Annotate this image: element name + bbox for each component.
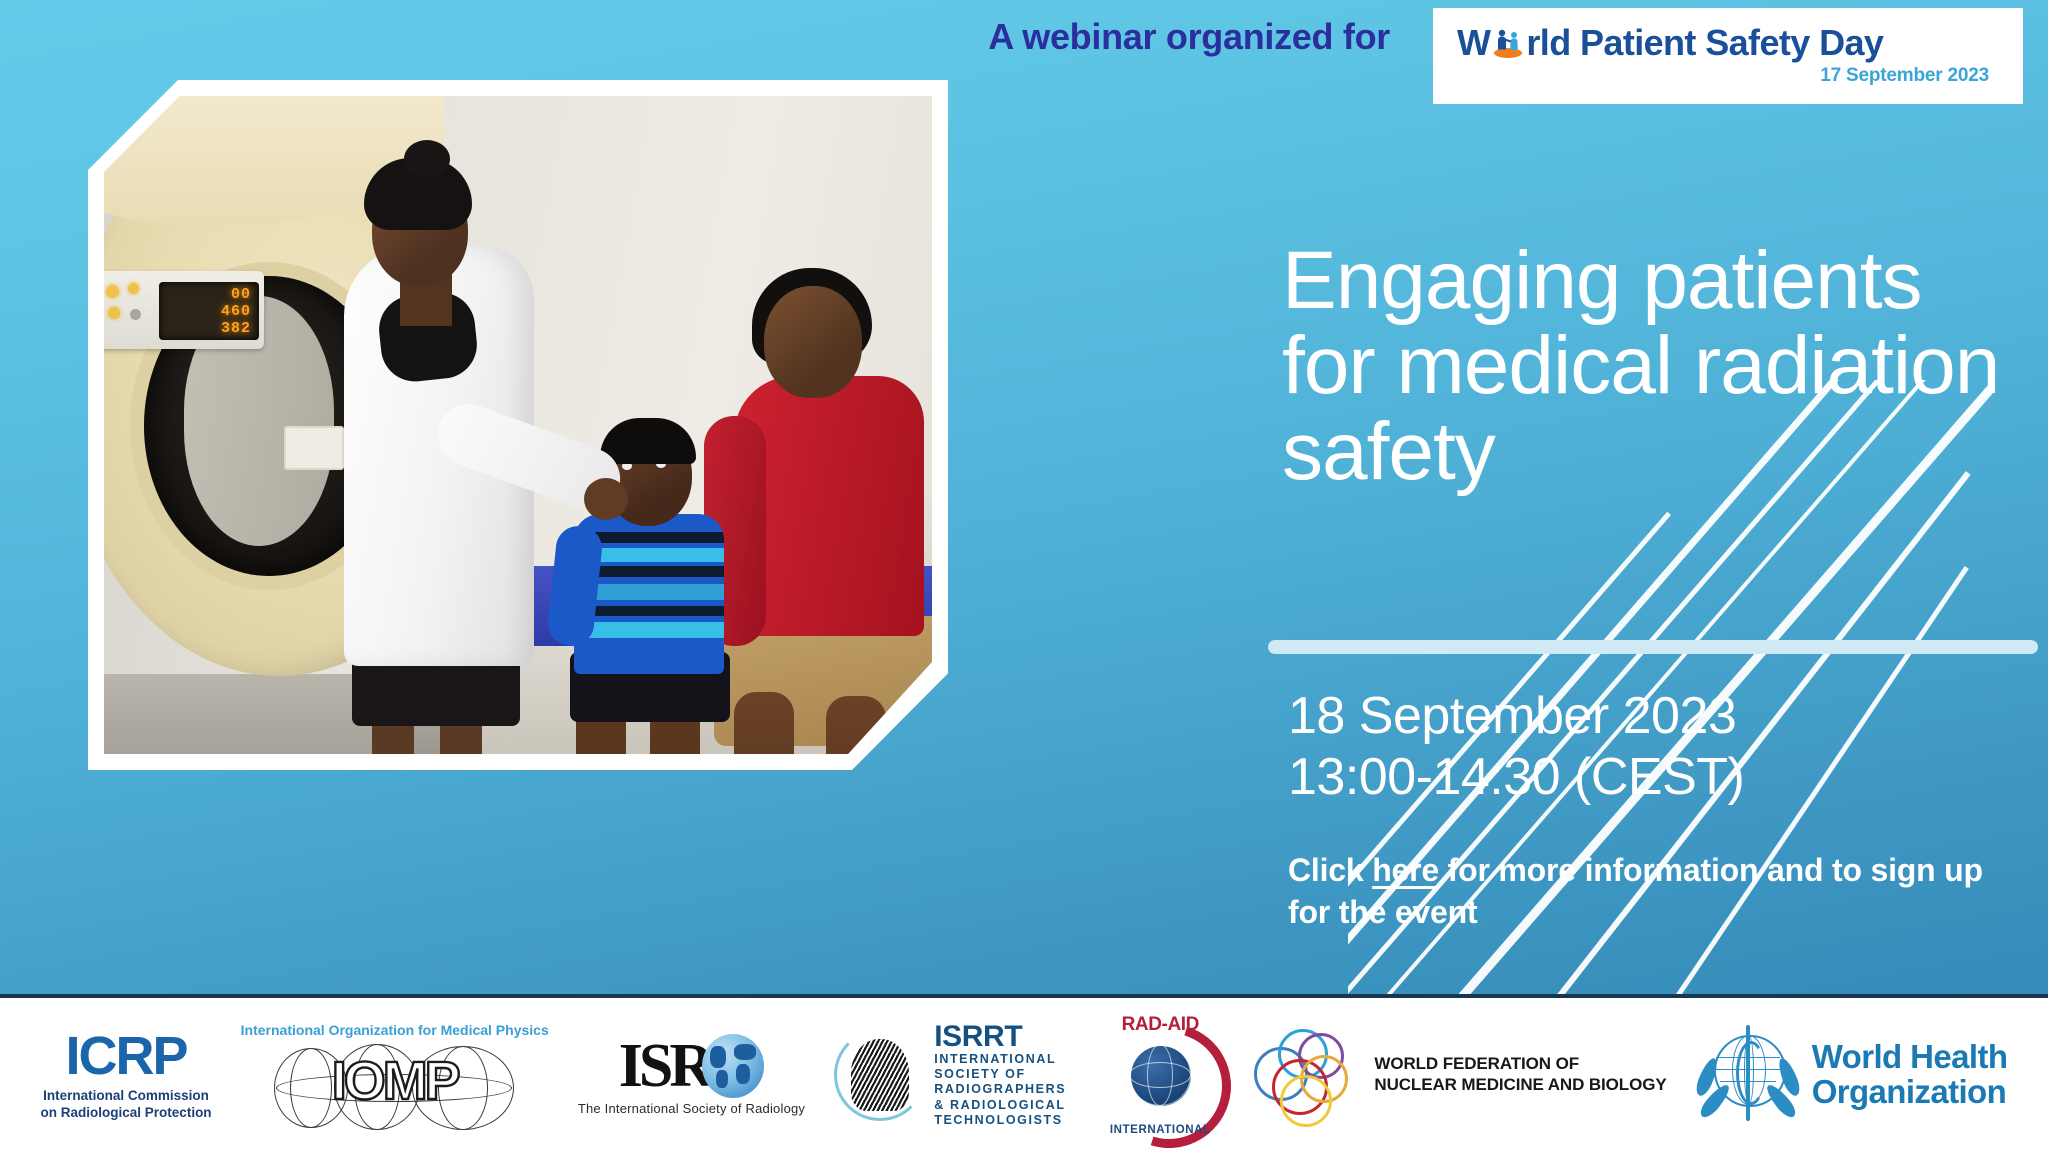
- radiographer-hair-bun: [404, 140, 450, 178]
- who-wordmark: World Health Organization: [1812, 1040, 2008, 1110]
- event-datetime: 18 September 2023 13:00-14:30 (CEST): [1288, 686, 2008, 809]
- who-emblem-icon: [1696, 1023, 1800, 1127]
- rad-aid-globe-icon: [1131, 1046, 1191, 1106]
- photo-frame: 00 460 382: [88, 80, 948, 770]
- event-date: 18 September 2023: [1288, 686, 2008, 747]
- poster-canvas: A webinar organized for W rld Patient Sa…: [0, 0, 2048, 1152]
- wall-outlet: [284, 426, 344, 470]
- iomp-globe-icon: IOMP: [272, 1040, 517, 1128]
- logo-wfnmb: WORLD FEDERATION OF NUCLEAR MEDICINE AND…: [1254, 1025, 1666, 1125]
- wpsd-title-pre: W: [1457, 25, 1490, 61]
- wfnmb-line-1: WORLD FEDERATION OF: [1374, 1054, 1666, 1075]
- isr-wordmark-row: ISR: [619, 1034, 764, 1098]
- wpsd-title-post: rld Patient Safety Day: [1526, 25, 1883, 61]
- wfnmb-line-2: NUCLEAR MEDICINE AND BIOLOGY: [1374, 1075, 1666, 1096]
- rad-aid-subtitle: INTERNATIONAL: [1095, 1124, 1225, 1136]
- led-value-1: 00: [231, 286, 251, 303]
- isr-wordmark: ISR: [619, 1035, 710, 1097]
- mother-head: [764, 286, 862, 398]
- shirt-stripe: [574, 606, 724, 616]
- wpsd-date: 17 September 2023: [1433, 65, 2023, 87]
- logo-rad-aid: RAD-AID INTERNATIONAL: [1095, 1014, 1225, 1136]
- logo-iomp: International Organization for Medical P…: [241, 1022, 549, 1128]
- iomp-wordmark: IOMP: [272, 1054, 517, 1108]
- radiographer-hand: [584, 478, 628, 520]
- isr-globe-icon: [702, 1034, 764, 1098]
- logo-who: World Health Organization: [1696, 1023, 2008, 1127]
- who-line-2: Organization: [1812, 1075, 2008, 1110]
- panel-button-3: [108, 307, 120, 319]
- mother-leg: [826, 696, 886, 754]
- title-divider: [1268, 640, 2038, 654]
- panel-button-4: [130, 309, 141, 320]
- event-time: 13:00-14:30 (CEST): [1288, 747, 2008, 808]
- signup-link[interactable]: here: [1372, 852, 1439, 888]
- iomp-subtitle: International Organization for Medical P…: [241, 1022, 549, 1038]
- ct-led-display: 00 460 382: [159, 282, 259, 340]
- isr-subtitle: The International Society of Radiology: [578, 1101, 805, 1116]
- panel-button-2: [128, 283, 139, 294]
- isrrt-line-5: TECHNOLOGISTS: [934, 1113, 1066, 1128]
- world-patient-safety-day-logo: W rld Patient Safety Day 17 September 20…: [1433, 8, 2023, 104]
- cta-text-pre: Click: [1288, 852, 1372, 888]
- mother-leg: [734, 692, 794, 754]
- photo-image: 00 460 382: [104, 96, 932, 754]
- isrrt-line-3: RADIOGRAPHERS: [934, 1082, 1066, 1097]
- who-line-1: World Health: [1812, 1040, 2008, 1075]
- isrrt-line-4: & RADIOLOGICAL: [934, 1098, 1066, 1113]
- partner-logo-bar: ICRP International Commission on Radiolo…: [0, 994, 2048, 1152]
- logo-isrrt: ISRRT INTERNATIONAL SOCIETY OF RADIOGRAP…: [834, 1022, 1066, 1128]
- isrrt-seal-icon: [834, 1029, 926, 1121]
- panel-button-1: [106, 285, 119, 298]
- isrrt-line-2: SOCIETY OF: [934, 1067, 1066, 1082]
- wpsd-people-icon: [1491, 26, 1525, 60]
- icrp-subtitle: International Commission on Radiological…: [41, 1088, 212, 1122]
- signup-cta: Click here for more information and to s…: [1288, 850, 2028, 933]
- header-webinar-label: A webinar organized for: [930, 16, 1390, 58]
- wfnmb-circles-icon: [1254, 1025, 1362, 1125]
- led-value-3: 382: [221, 320, 251, 337]
- isrrt-line-1: INTERNATIONAL: [934, 1052, 1066, 1067]
- shirt-stripe: [574, 622, 724, 638]
- logo-icrp: ICRP International Commission on Radiolo…: [41, 1029, 212, 1122]
- wfnmb-text: WORLD FEDERATION OF NUCLEAR MEDICINE AND…: [1374, 1054, 1666, 1095]
- icrp-wordmark: ICRP: [66, 1029, 187, 1083]
- isrrt-wordmark: ISRRT: [934, 1022, 1066, 1052]
- logo-isr: ISR The International Society of Radiolo…: [578, 1034, 805, 1116]
- page-title: Engaging patients for medical radiation …: [1282, 238, 2002, 494]
- isrrt-text: ISRRT INTERNATIONAL SOCIETY OF RADIOGRAP…: [934, 1022, 1066, 1128]
- wpsd-title: W rld Patient Safety Day: [1433, 25, 2023, 61]
- led-value-2: 460: [221, 303, 251, 320]
